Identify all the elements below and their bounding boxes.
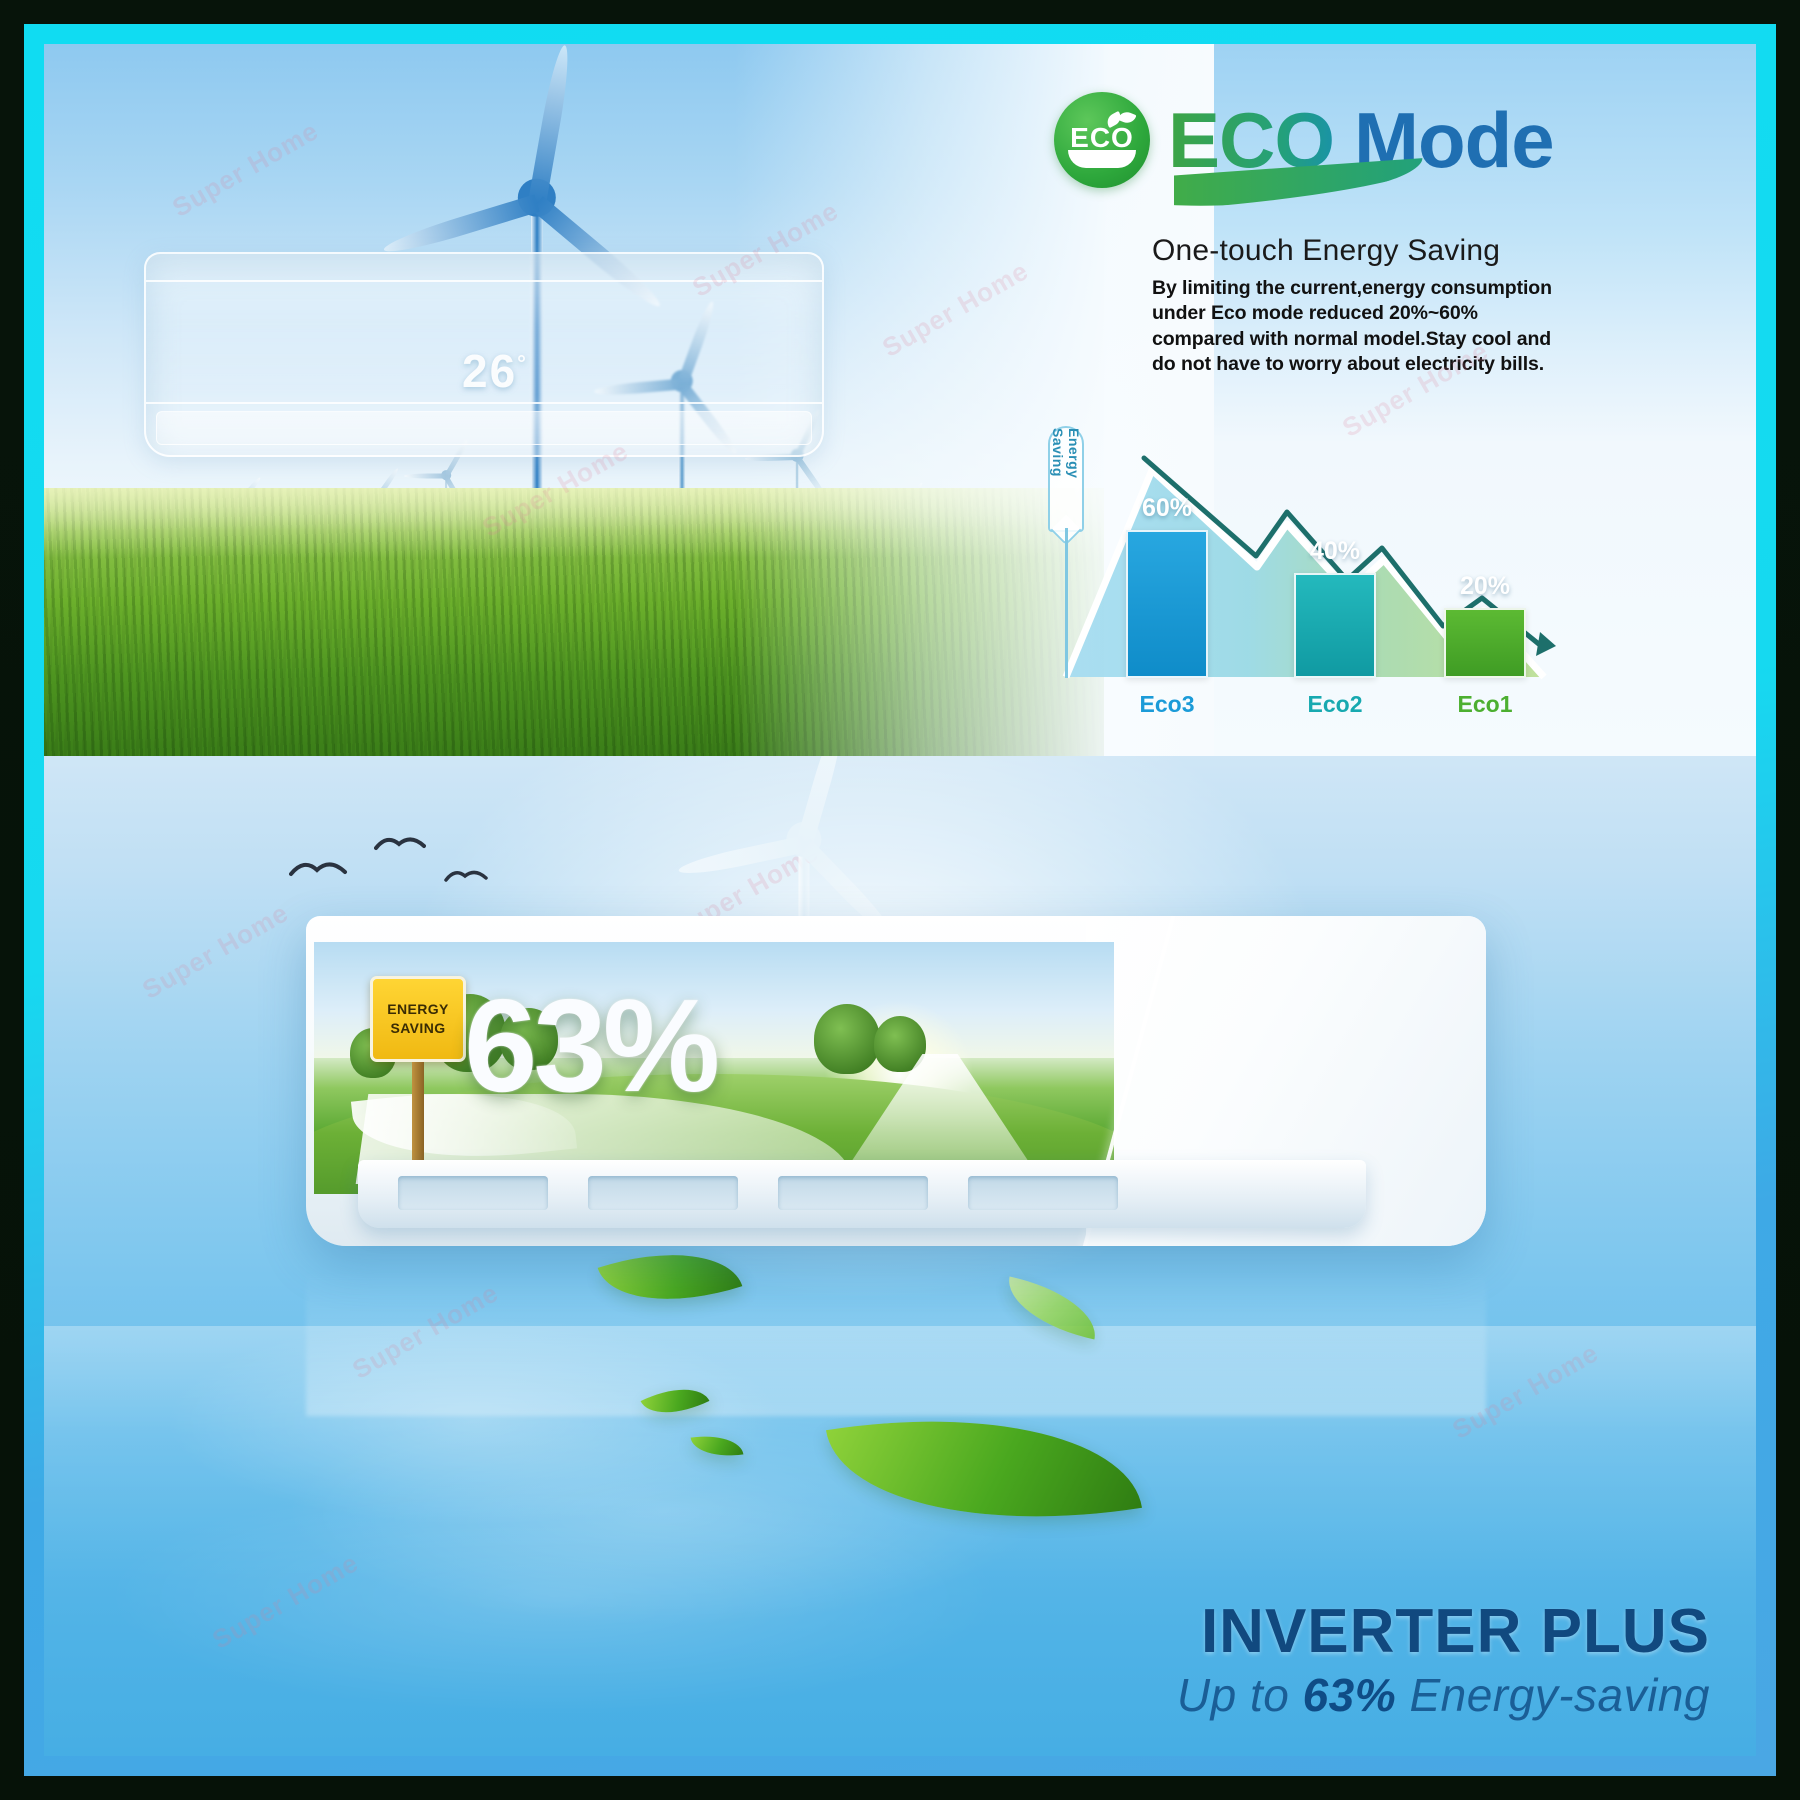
ac-temp-value: 26 <box>462 345 517 397</box>
ac-louver <box>156 411 812 445</box>
bird-icon <box>289 856 349 882</box>
air-conditioner-main-unit: ENERGY SAVING 63% <box>306 916 1486 1246</box>
inverter-copy-block: INVERTER PLUS Up to 63% Energy-saving <box>1177 1599 1710 1722</box>
sign-post <box>412 1062 424 1170</box>
hand-cradle-icon <box>1068 150 1136 168</box>
sign-plate: ENERGY SAVING <box>370 976 466 1062</box>
ac-temp-unit: ° <box>517 351 528 376</box>
eco-mode-heading: ECO ECO Mode <box>1054 92 1614 188</box>
ac-vent <box>968 1176 1118 1210</box>
subhead-prefix: Up to <box>1177 1669 1303 1721</box>
inverter-subheadline: Up to 63% Energy-saving <box>1177 1668 1710 1722</box>
chart-bar-category: Eco2 <box>1308 691 1363 718</box>
tree-icon <box>814 1004 880 1074</box>
energy-saving-road-sign: ENERGY SAVING <box>370 976 466 1170</box>
ac-temperature-display: 26° <box>462 344 528 398</box>
bird-icon <box>374 832 426 856</box>
subhead-suffix: Energy-saving <box>1396 1669 1710 1721</box>
eco-mode-panel: 26° ECO ECO Mode One-touch Energy Saving… <box>44 44 1756 756</box>
ac-front-artwork: ENERGY SAVING 63% <box>314 942 1114 1194</box>
sign-line-1: ENERGY <box>387 1000 449 1019</box>
chart-bar-category: Eco1 <box>1458 691 1513 718</box>
air-conditioner-ghost-unit: 26° <box>144 252 824 457</box>
chart-y-axis-line <box>1065 528 1068 678</box>
ac-vent <box>588 1176 738 1210</box>
promo-canvas: 26° ECO ECO Mode One-touch Energy Saving… <box>44 44 1756 1756</box>
ac-vent <box>778 1176 928 1210</box>
eco-leaf-badge-icon: ECO <box>1054 92 1150 188</box>
chart-y-axis-label: Energy Saving <box>1050 428 1082 530</box>
sign-line-2: SAVING <box>390 1019 445 1038</box>
chart-bar-eco1: 20% Eco1 <box>1444 608 1526 678</box>
chart-bar-value: 60% <box>1142 494 1192 523</box>
chart-y-axis-tag: Energy Saving <box>1048 426 1084 532</box>
inverter-headline: INVERTER PLUS <box>1177 1599 1710 1664</box>
eco-subtitle: One-touch Energy Saving <box>1152 234 1592 268</box>
chart-bar-eco3: 60% Eco3 <box>1126 530 1208 678</box>
inverter-plus-panel: ENERGY SAVING 63% <box>44 756 1756 1756</box>
turbine-blade <box>404 474 446 479</box>
ac-vent <box>398 1176 548 1210</box>
chart-bar-value: 20% <box>1460 572 1510 601</box>
ac-seam <box>146 402 822 404</box>
subhead-percent: 63% <box>1303 1669 1397 1721</box>
watermark: Super Home <box>137 897 294 1005</box>
percent-63-headline: 63% <box>464 980 716 1112</box>
chart-bar-eco2: 40% Eco2 <box>1294 573 1376 678</box>
chart-bar-value: 40% <box>1310 537 1360 566</box>
energy-saving-chart: Energy Saving 60% Eco3 40% Eco2 20% Eco1 <box>1044 432 1564 712</box>
eco-mode-title: ECO Mode <box>1168 101 1554 179</box>
eco-body-text: By limiting the current,energy consumpti… <box>1152 276 1572 377</box>
chart-bar-category: Eco3 <box>1140 691 1195 718</box>
ac-seam <box>146 280 822 282</box>
bird-icon <box>444 866 488 886</box>
trend-arrow-head <box>1536 632 1556 656</box>
ac-louver-assembly <box>358 1160 1366 1228</box>
